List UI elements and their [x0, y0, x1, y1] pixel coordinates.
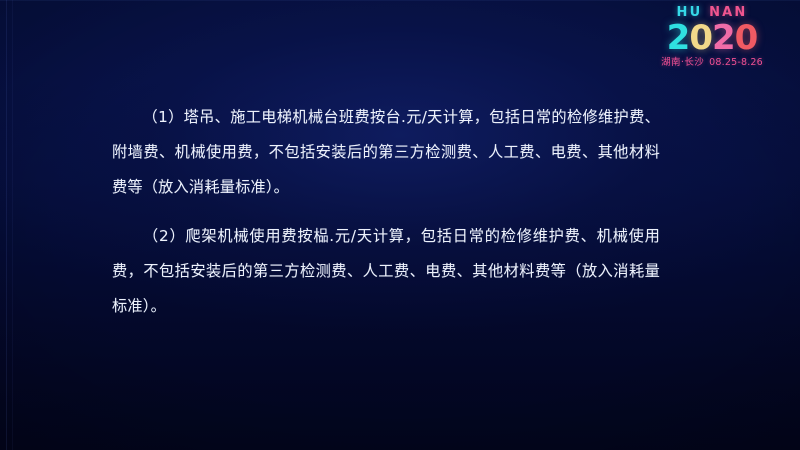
logo-year-digit-3: 2	[712, 21, 735, 56]
slide-body-content: （1）塔吊、施工电梯机械台班费按台.元/天计算，包括日常的检修维护费、附墙费、机…	[112, 100, 660, 324]
logo-year: 2020	[642, 21, 782, 56]
paragraph-2-text: （2）爬架机械使用费按榀.元/天计算，包括日常的检修维护费、机械使用费，不包括安…	[112, 227, 660, 315]
logo-subtitle: 湖南·长沙08.25-8.26	[642, 58, 782, 68]
body-paragraph-2: （2）爬架机械使用费按榀.元/天计算，包括日常的检修维护费、机械使用费，不包括安…	[112, 219, 660, 324]
logo-subtitle-location: 湖南·长沙	[661, 57, 704, 68]
slide-top-edge-line	[0, 0, 800, 1]
conference-logo: HU NAN 2020 湖南·长沙08.25-8.26	[642, 6, 782, 67]
slide-left-edge-line-secondary	[12, 0, 13, 450]
logo-year-digit-4: 0	[735, 21, 758, 56]
presentation-slide: HU NAN 2020 湖南·长沙08.25-8.26 （1）塔吊、施工电梯机械…	[0, 0, 800, 450]
logo-year-digit-2: 0	[689, 21, 712, 56]
logo-year-digit-1: 2	[667, 21, 690, 56]
logo-subtitle-dates: 08.25-8.26	[709, 57, 763, 68]
body-paragraph-1: （1）塔吊、施工电梯机械台班费按台.元/天计算，包括日常的检修维护费、附墙费、机…	[112, 100, 660, 205]
paragraph-1-text: （1）塔吊、施工电梯机械台班费按台.元/天计算，包括日常的检修维护费、附墙费、机…	[112, 108, 660, 196]
slide-left-edge-line	[6, 0, 7, 450]
